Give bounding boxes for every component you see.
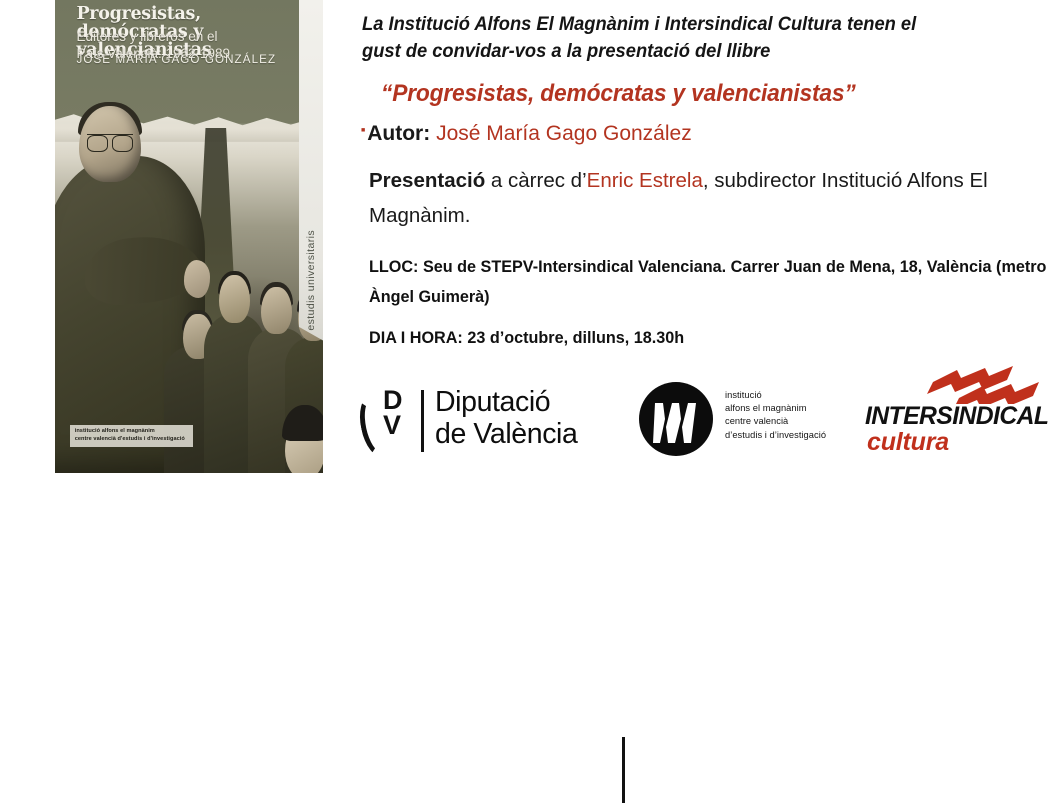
author-name: José María Gago González	[436, 122, 692, 145]
intersindical-subwordmark: cultura	[867, 428, 949, 457]
intersindical-logo: INTERSINDICAL cultura	[865, 366, 1055, 470]
magnanim-zigzag-icon	[651, 401, 701, 445]
monogram-letter-v: V	[383, 413, 403, 438]
book-cover-publisher-imprint: institució alfons el magnànim centre val…	[70, 425, 193, 447]
book-cover-subtitle-line1: Editores y libreros en el	[76, 29, 306, 45]
magnanim-wordmark: institució alfons el magnànim centre val…	[725, 389, 826, 442]
logo-bar: D V Diputació de València institució	[357, 360, 1056, 480]
intersindical-wordmark: INTERSINDICAL	[865, 402, 1048, 431]
diputacio-monogram: D V	[383, 388, 403, 438]
presentation-mid-text: a càrrec d’	[485, 169, 586, 192]
book-cover-series-strip: estudis universitaris	[299, 0, 323, 341]
magnanim-logo: institució alfons el magnànim centre val…	[639, 378, 864, 462]
magnanim-text-line1: institució	[725, 389, 826, 402]
magnanim-emblem-circle	[639, 382, 713, 456]
audience-head	[219, 275, 250, 323]
intersindical-flag-icon	[927, 366, 1047, 404]
magnanim-text-line2: alfons el magnànim	[725, 402, 826, 415]
datetime-value: 23 d’octubre, dilluns, 18.30h	[463, 329, 684, 347]
bullet-mark-icon: ■	[361, 127, 365, 134]
imprint-line2: centre valencià d'estudis i d'investigac…	[75, 436, 185, 444]
datetime-line: DIA I HORA: 23 d’octubre, dilluns, 18.30…	[369, 328, 1049, 349]
diputacio-logo: D V Diputació de València	[359, 374, 609, 466]
diputacio-name-line1: Diputació	[435, 387, 577, 419]
author-line: ■Autor: José María Gago González	[361, 120, 692, 148]
place-line1: Seu de STEPV-Intersindical Valenciana. C…	[418, 258, 922, 276]
book-cover-text-area: Progresistas, demócratas y valencianista…	[55, 0, 323, 130]
book-title-headline: “Progresistas, demócratas y valencianist…	[381, 81, 1004, 108]
divider-rule	[421, 390, 424, 452]
presentation-label: Presentació	[369, 169, 485, 192]
poster-canvas: Progresistas, demócratas y valencianista…	[0, 0, 1056, 485]
presenter-name: Enric Estrela	[587, 169, 703, 192]
diputacio-name-line2: de València	[435, 419, 577, 451]
place-label: LLOC:	[369, 258, 418, 276]
presentation-line: Presentació a càrrec d’Enric Estrela, su…	[369, 163, 1049, 234]
invitation-lead: La Institució Alfons El Magnànim i Inter…	[362, 11, 981, 65]
datetime-label: DIA I HORA:	[369, 329, 463, 347]
magnanim-text-line4: d’estudis i d’investigació	[725, 429, 826, 442]
book-cover-author: JOSÉ MARÍA GAGO GONZÁLEZ	[76, 53, 312, 66]
diputacio-wordmark: Diputació de València	[435, 387, 577, 451]
author-separator: :	[423, 122, 430, 145]
magnanim-text-line3: centre valencià	[725, 415, 826, 428]
book-cover-series-label: estudis universitaris	[305, 230, 317, 331]
book-cover: Progresistas, demócratas y valencianista…	[55, 0, 323, 473]
invitation-lead-line2: gust de convidar-vos a la presentació de…	[362, 38, 981, 65]
author-label: Autor	[367, 122, 423, 145]
invitation-lead-line1: La Institució Alfons El Magnànim i Inter…	[362, 11, 981, 38]
invitation-panel: La Institució Alfons El Magnànim i Inter…	[357, 0, 1056, 485]
audience-head	[261, 287, 292, 335]
place-line: LLOC: Seu de STEPV-Intersindical Valenci…	[369, 253, 1049, 313]
speaker-glasses	[87, 134, 133, 150]
logo-divider-rule	[622, 737, 625, 803]
imprint-line1: institució alfons el magnànim	[75, 428, 185, 436]
